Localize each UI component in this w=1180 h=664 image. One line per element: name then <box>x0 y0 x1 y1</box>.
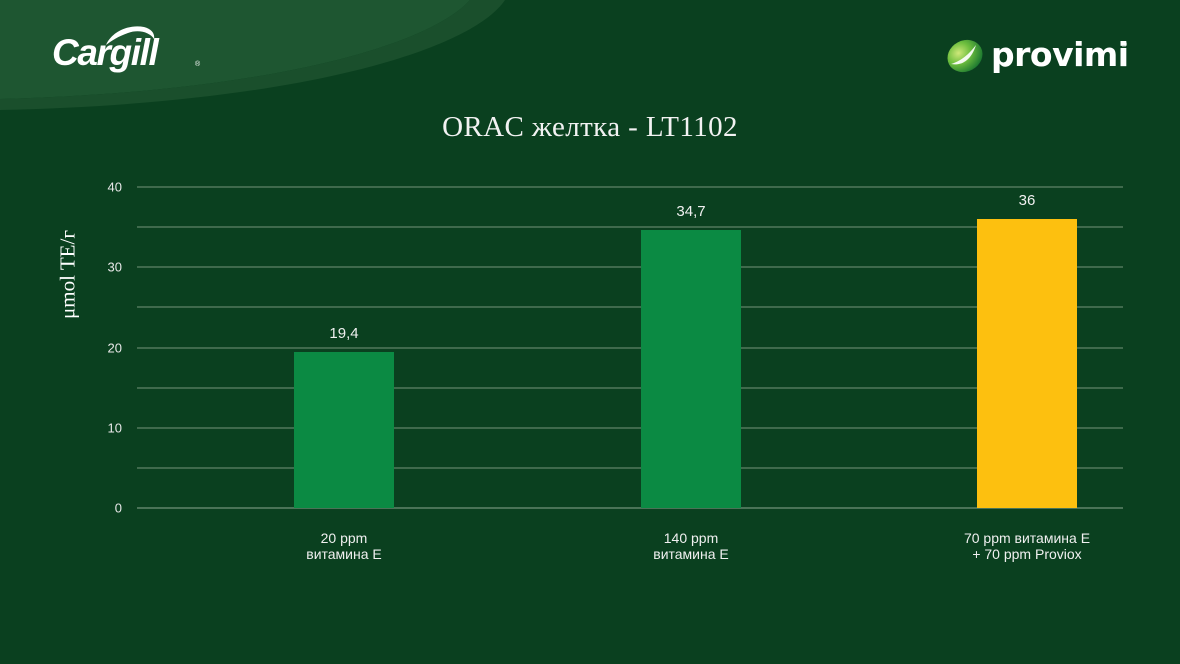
cargill-registered-mark: ® <box>195 61 200 68</box>
bar[interactable] <box>294 352 394 508</box>
gridline <box>137 467 1123 469</box>
provimi-logo: provimi ® <box>945 36 1135 80</box>
y-axis-tick-label: 20 <box>62 340 122 355</box>
gridline <box>137 266 1123 268</box>
category-label-line: 20 ppm <box>214 530 474 546</box>
cargill-wordmark: Cargill <box>52 34 157 71</box>
y-axis-tick-label: 0 <box>62 501 122 516</box>
provimi-registered-mark: ® <box>1121 40 1127 49</box>
gridline <box>137 186 1123 188</box>
provimi-leaf-icon <box>945 36 985 76</box>
x-axis-category-label: 20 ppmвитамина Е <box>214 530 474 562</box>
bar[interactable] <box>641 230 741 508</box>
category-label-line: 140 ppm <box>561 530 821 546</box>
bar[interactable] <box>977 219 1077 508</box>
category-label-line: 70 ppm витамина Е <box>897 530 1157 546</box>
gridline <box>137 306 1123 308</box>
plot-area: 19,434,736 <box>137 187 1123 508</box>
category-label-line: + 70 ppm Proviox <box>897 546 1157 562</box>
y-axis-tick-label: 10 <box>62 420 122 435</box>
bar-value-label: 34,7 <box>611 203 771 220</box>
x-axis-baseline <box>137 507 1123 509</box>
y-axis-tick-label: 40 <box>62 180 122 195</box>
y-axis-tick-labels: 010203040 <box>0 187 130 508</box>
slide-canvas: Cargill ® provimi ® ORAC желтка - LT1102… <box>0 0 1180 664</box>
chart-title: ORAC желтка - LT1102 <box>0 111 1180 144</box>
y-axis-tick-label: 30 <box>62 260 122 275</box>
gridline <box>137 347 1123 349</box>
bar-value-label: 19,4 <box>264 325 424 342</box>
bar-value-label: 36 <box>947 192 1107 209</box>
gridline <box>137 226 1123 228</box>
category-label-line: витамина Е <box>214 546 474 562</box>
x-axis-category-label: 70 ppm витамина Е+ 70 ppm Proviox <box>897 530 1157 562</box>
x-axis-category-label: 140 ppmвитамина Е <box>561 530 821 562</box>
cargill-logo: Cargill ® <box>52 28 242 84</box>
category-label-line: витамина Е <box>561 546 821 562</box>
gridline <box>137 387 1123 389</box>
gridline <box>137 427 1123 429</box>
provimi-wordmark: provimi <box>991 37 1129 73</box>
